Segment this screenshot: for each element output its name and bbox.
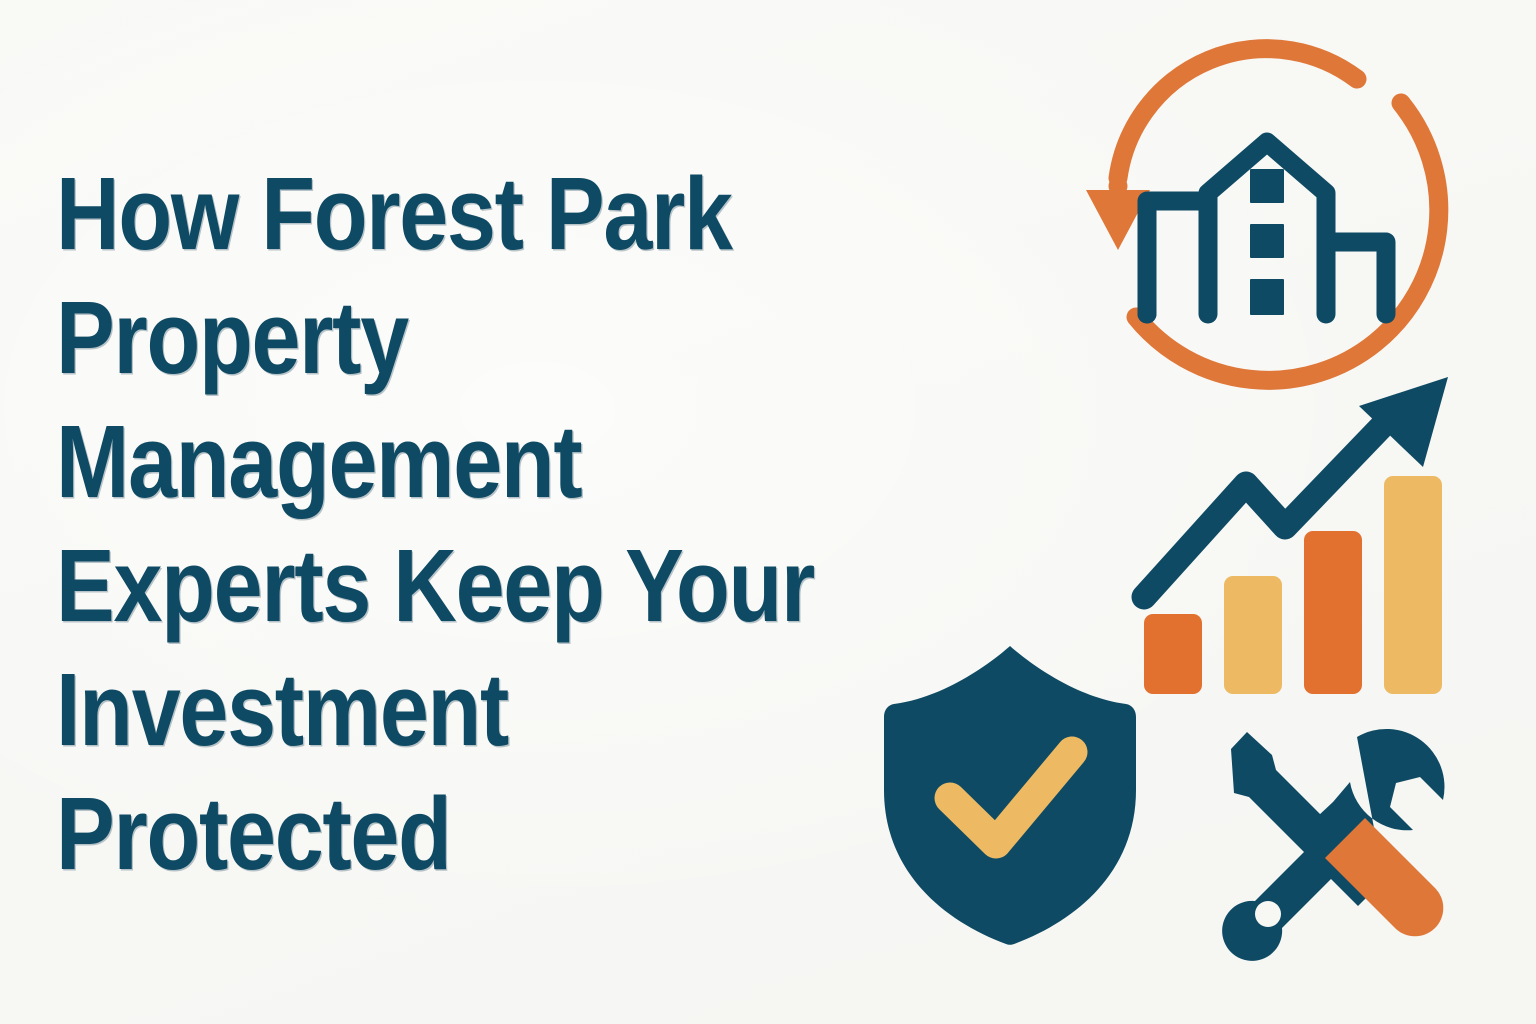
page-title: How Forest Park Property Management Expe… (56, 152, 1056, 896)
wrench-icon (1303, 729, 1444, 936)
headline-line-1: How Forest Park (56, 152, 911, 276)
bar-4 (1384, 476, 1442, 694)
graphic-canvas: How Forest Park Property Management Expe… (0, 0, 1536, 1024)
growth-chart-icon (1130, 372, 1490, 702)
headline-line-5: Investment (56, 648, 911, 772)
building-cycle-icon (1074, 46, 1454, 406)
headline-line-2: Property (56, 276, 911, 400)
building-windows (1250, 169, 1284, 315)
bar-3 (1304, 531, 1362, 694)
bar-1 (1144, 614, 1202, 694)
headline-line-6: Protected (56, 772, 911, 896)
bar-2 (1224, 576, 1282, 694)
headline-line-4: Experts Keep Your (56, 524, 911, 648)
cycle-arrow-ring (1118, 49, 1439, 381)
tools-icon (1215, 722, 1465, 957)
headline-line-3: Management (56, 400, 911, 524)
